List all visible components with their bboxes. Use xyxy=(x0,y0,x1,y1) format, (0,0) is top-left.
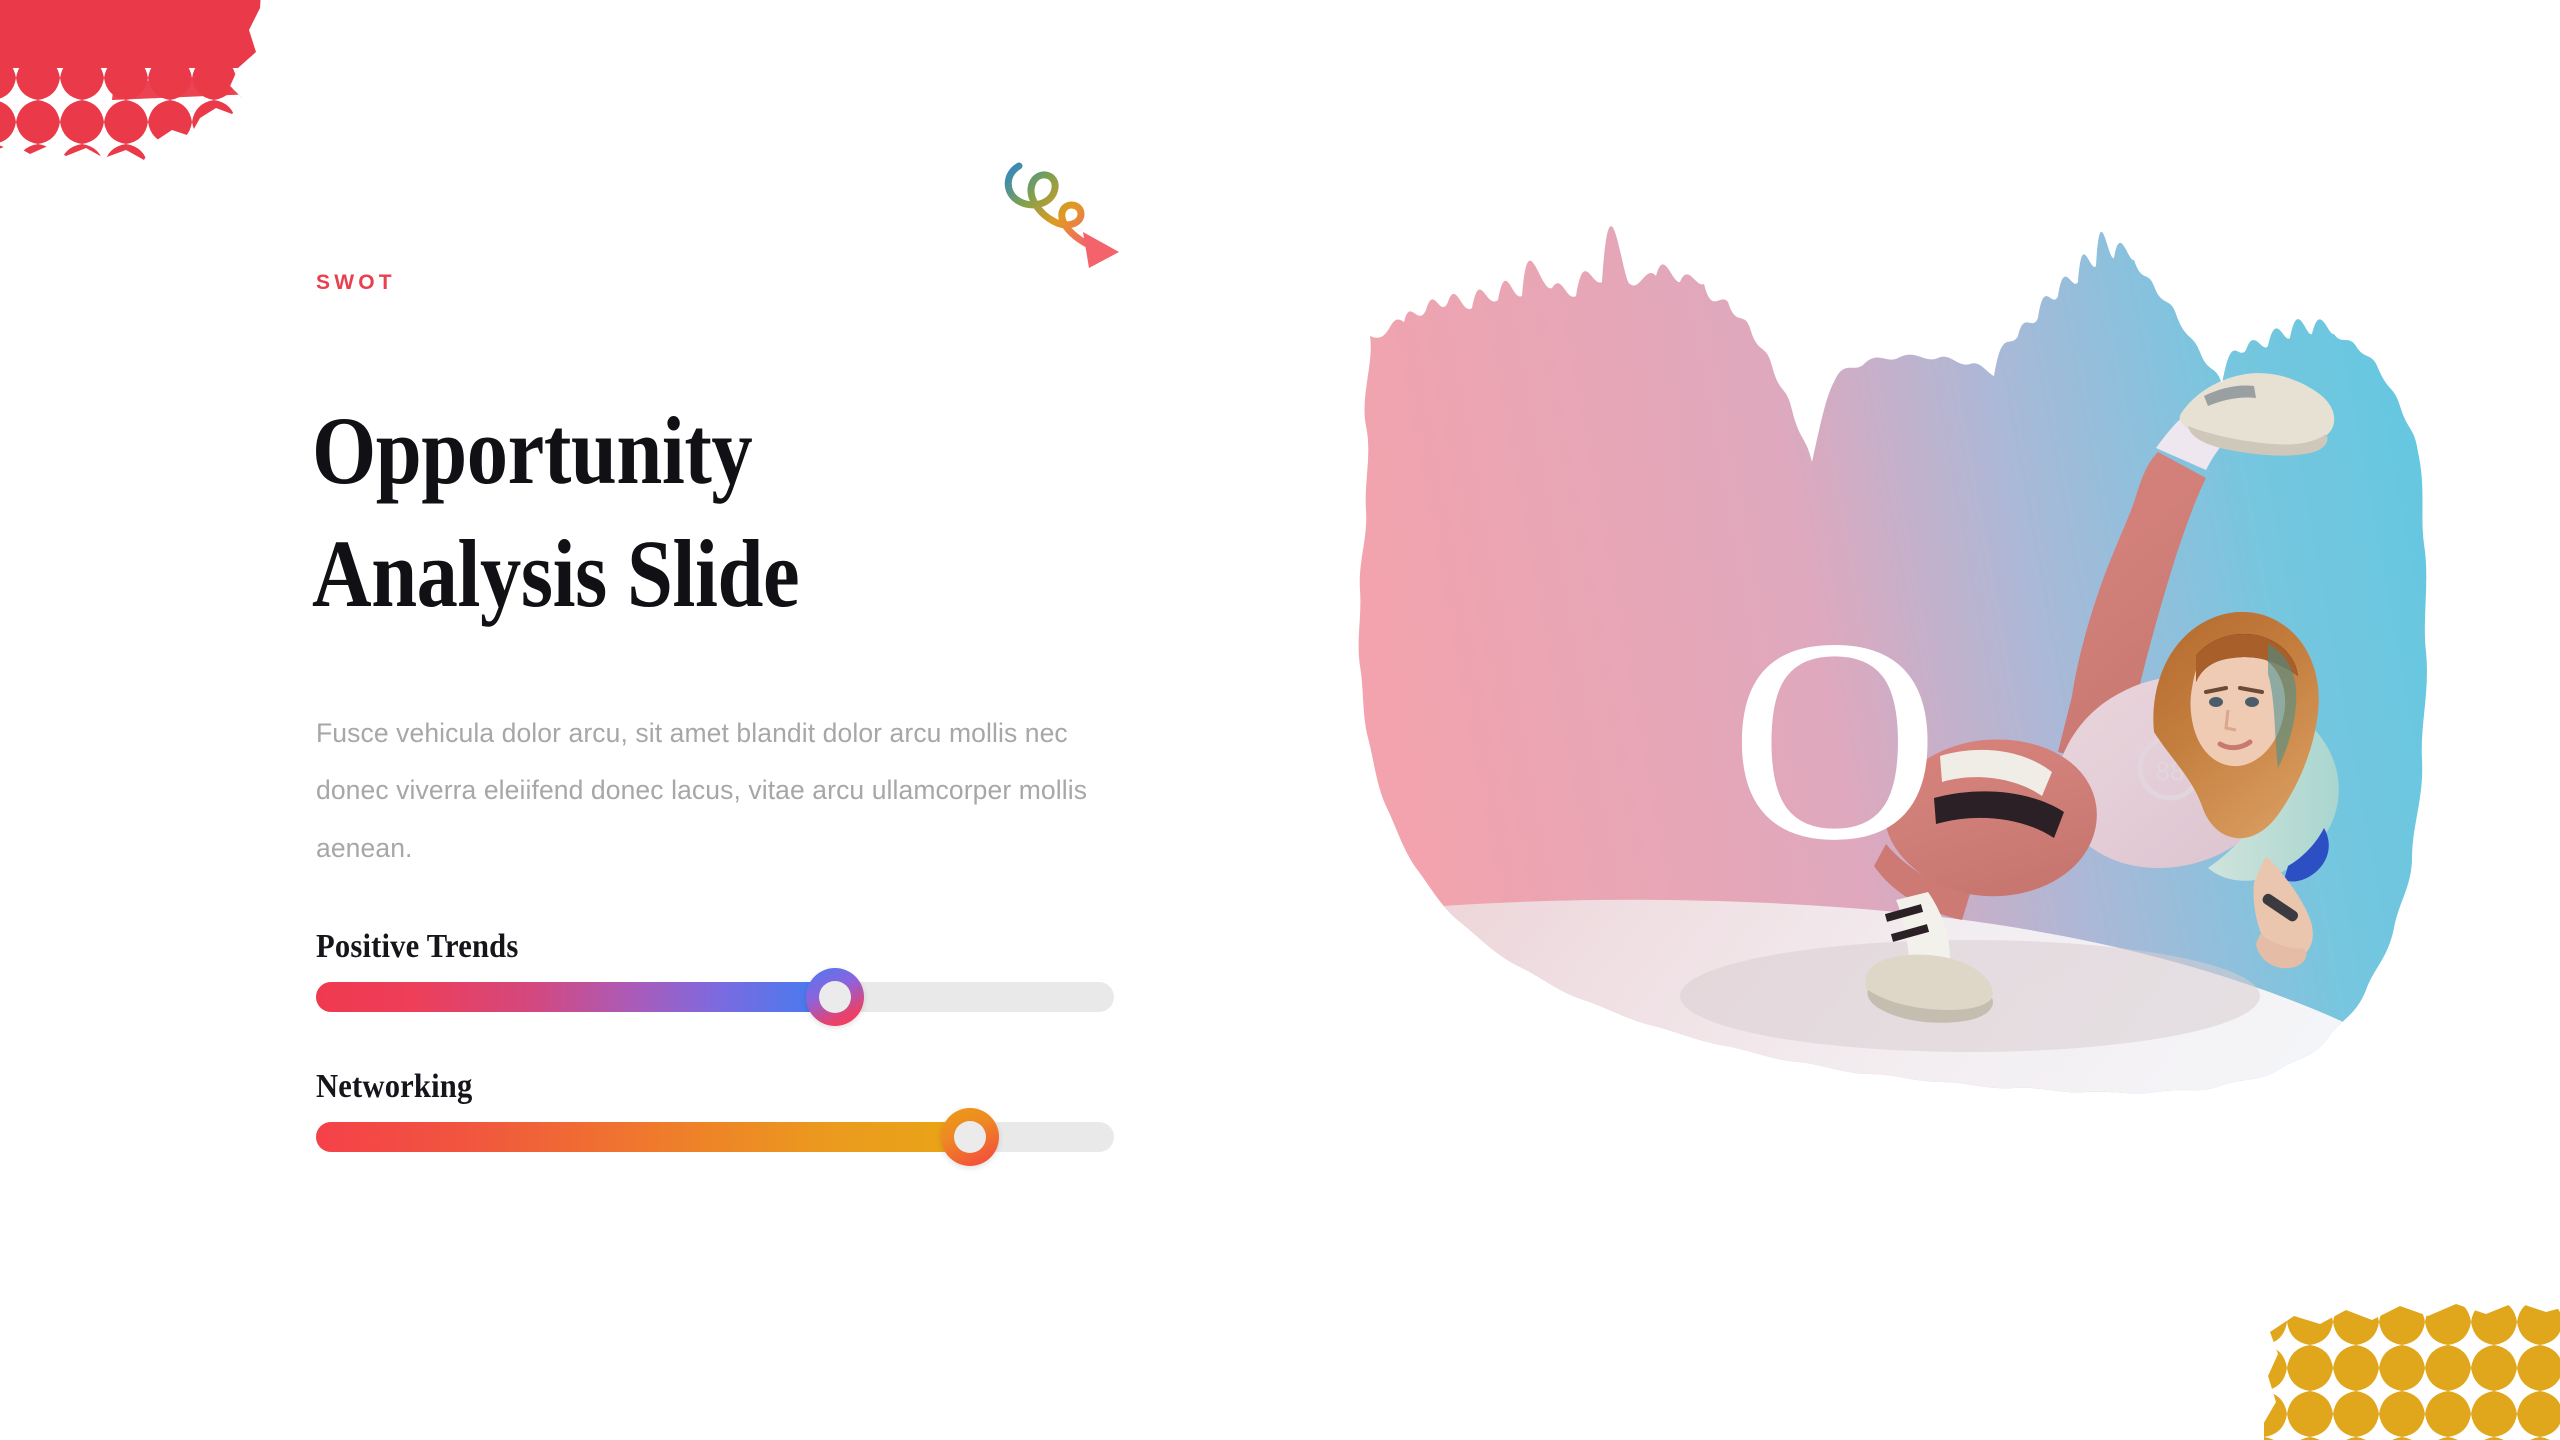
meter-label: Networking xyxy=(316,1070,473,1104)
slider-track-positive-trends[interactable] xyxy=(316,982,1114,1012)
eyebrow-label: SWOT xyxy=(316,272,396,293)
page-title: Opportunity Analysis Slide xyxy=(312,390,983,636)
page-title-line-2: Analysis Slide xyxy=(312,513,983,636)
slider-track-networking[interactable] xyxy=(316,1122,1114,1152)
slider-thumb-positive-trends[interactable] xyxy=(806,968,864,1026)
page-title-line-1: Opportunity xyxy=(312,397,752,504)
meter-networking: Networking xyxy=(316,1070,1136,1210)
overlay-letter-o: O xyxy=(1730,595,1939,885)
meter-positive-trends: Positive Trends xyxy=(316,930,1136,1070)
slider-fill xyxy=(316,1122,970,1152)
red-brush-stroke-icon xyxy=(0,0,274,180)
body-paragraph: Fusce vehicula dolor arcu, sit amet blan… xyxy=(316,705,1106,878)
content-column: SWOT Opportunity Analysis Slide Fusce ve… xyxy=(316,0,1156,1440)
slider-fill xyxy=(316,982,835,1012)
slide-canvas: SWOT Opportunity Analysis Slide Fusce ve… xyxy=(0,0,2560,1440)
slider-thumb-networking[interactable] xyxy=(941,1108,999,1166)
meter-label: Positive Trends xyxy=(316,930,518,964)
meter-list: Positive Trends Networking xyxy=(316,930,1136,1210)
